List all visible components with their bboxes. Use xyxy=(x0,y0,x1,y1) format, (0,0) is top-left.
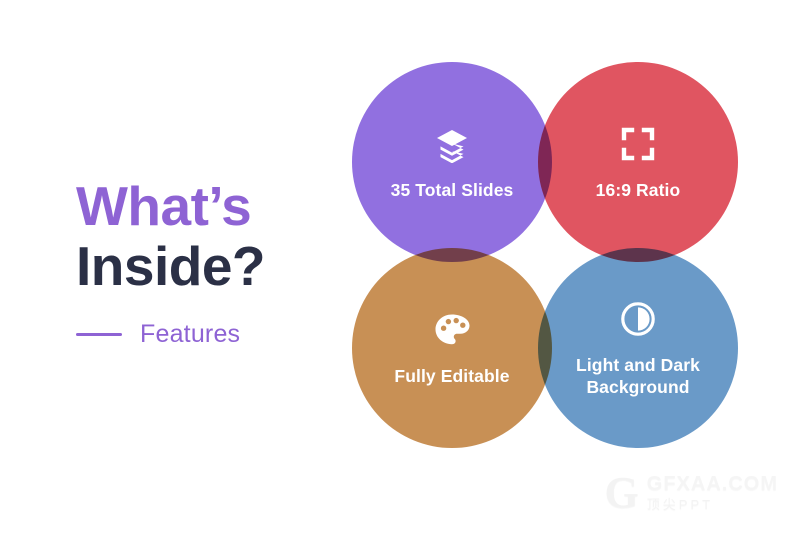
layers-icon xyxy=(431,123,473,165)
watermark-logo-icon: G xyxy=(605,471,639,515)
crop-frame-icon xyxy=(617,123,659,165)
subtitle-row: Features xyxy=(76,320,376,349)
watermark-subtext: 顶尖PPT xyxy=(647,497,778,513)
heading-block: What’s Inside? Features xyxy=(76,178,376,349)
slide-canvas: What’s Inside? Features 35 Total Slides xyxy=(0,0,800,533)
palette-icon xyxy=(431,309,473,351)
contrast-icon xyxy=(617,298,659,340)
page-title-line-1: What’s xyxy=(76,178,376,234)
venn-diagram: 35 Total Slides 16:9 Ratio xyxy=(340,52,760,462)
venn-label-total-slides: 35 Total Slides xyxy=(391,179,514,201)
venn-circle-aspect-ratio[interactable]: 16:9 Ratio xyxy=(538,62,738,262)
venn-label-fully-editable: Fully Editable xyxy=(394,365,509,387)
page-title-line-2: Inside? xyxy=(76,234,376,294)
divider-rule xyxy=(76,333,122,336)
subtitle-label: Features xyxy=(140,320,240,349)
venn-circle-fully-editable[interactable]: Fully Editable xyxy=(352,248,552,448)
watermark-text-block: GFXAA.COM 顶尖PPT xyxy=(647,473,778,513)
venn-circle-light-dark-background[interactable]: Light and Dark Background xyxy=(538,248,738,448)
venn-label-aspect-ratio: 16:9 Ratio xyxy=(596,179,681,201)
watermark-domain: GFXAA.COM xyxy=(647,473,778,495)
venn-label-light-dark-background: Light and Dark Background xyxy=(576,354,700,399)
venn-circle-total-slides[interactable]: 35 Total Slides xyxy=(352,62,552,262)
watermark: G GFXAA.COM 顶尖PPT xyxy=(605,471,778,515)
